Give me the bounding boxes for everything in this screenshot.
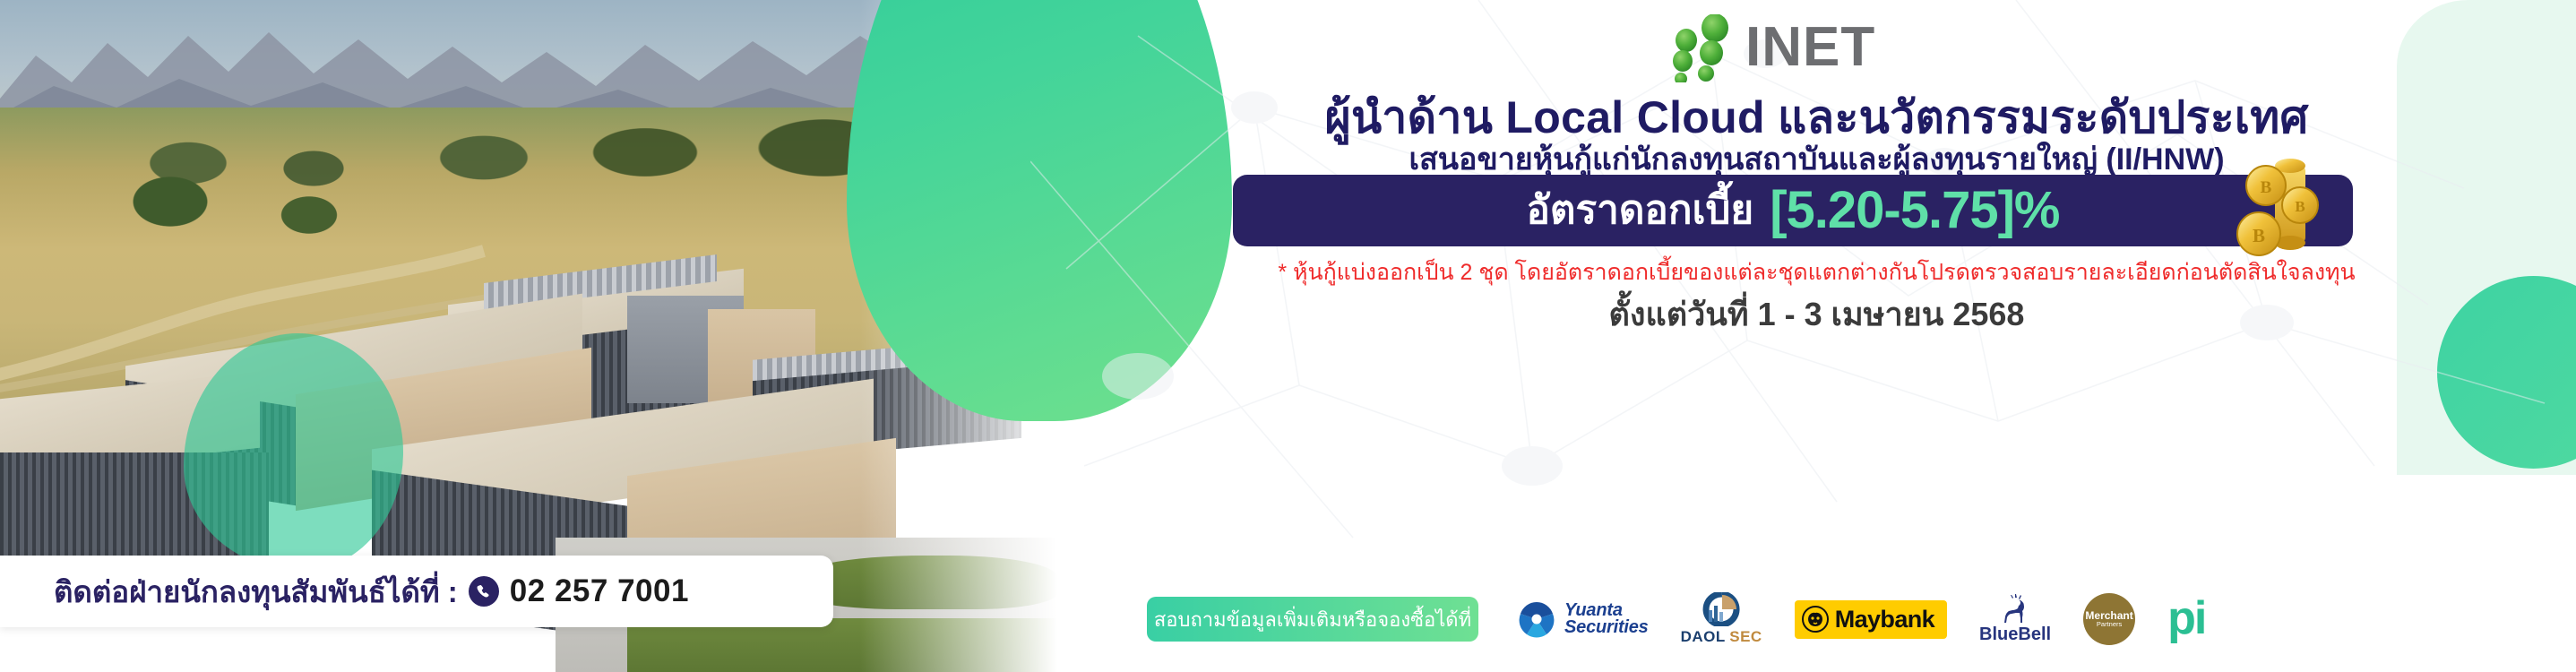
partner-logos: Yuanta Securities DAOL SEC: [1516, 591, 2205, 647]
inet-wordmark: INET: [1745, 20, 1875, 75]
investor-relations-contact-card: ติดต่อฝ่ายนักลงทุนสัมพันธ์ได้ที่ : 02 25…: [0, 556, 833, 627]
gold-coin-stack-icon: B B B: [2223, 155, 2326, 264]
partner-logo-bluebell[interactable]: BlueBell: [1979, 591, 2051, 647]
svg-text:B: B: [2261, 178, 2272, 197]
maybank-wordmark: Maybank: [1835, 606, 1934, 633]
svg-text:B: B: [2295, 198, 2305, 215]
inquiry-cta-button[interactable]: สอบถามข้อมูลเพิ่มเติมหรือจองซื้อได้ที่: [1147, 597, 1478, 642]
phone-glyph: [475, 583, 492, 600]
interest-rate-box: อัตราดอกเบี้ย [5.20-5.75]%: [1233, 175, 2353, 246]
daol-line2: SEC: [1729, 628, 1762, 645]
merchant-circle-icon: Merchant Partners: [2083, 593, 2135, 645]
inet-debenture-banner: INET ผู้นำด้าน Local Cloud และนวัตกรรมระ…: [0, 0, 2576, 672]
partner-logo-merchant[interactable]: Merchant Partners: [2083, 591, 2135, 647]
partner-logo-yuanta[interactable]: Yuanta Securities: [1516, 591, 1649, 647]
contact-label: ติดต่อฝ่ายนักลงทุนสัมพันธ์ได้ที่ :: [54, 568, 458, 616]
cta-and-partners-row: สอบถามข้อมูลเพิ่มเติมหรือจองซื้อได้ที่: [1057, 591, 2576, 647]
interest-rate-label: อัตราดอกเบี้ย: [1526, 191, 1753, 230]
maybank-tiger-icon: [1802, 606, 1829, 633]
interest-rate-value: [5.20-5.75]%: [1770, 185, 2059, 237]
partner-logo-maybank[interactable]: Maybank: [1795, 591, 1947, 647]
partner-logo-daol[interactable]: DAOL SEC: [1681, 591, 1762, 647]
inet-logo: INET: [1665, 14, 1943, 82]
bluebell-deer-icon: [1997, 594, 2033, 625]
yuanta-star-icon: [1516, 599, 1557, 640]
svg-text:B: B: [2253, 225, 2265, 246]
pi-wordmark-icon: pi: [2167, 600, 2205, 638]
bluebell-wordmark: BlueBell: [1979, 625, 2051, 645]
content-column: INET ผู้นำด้าน Local Cloud และนวัตกรรมระ…: [1057, 0, 2576, 672]
offer-date-range: ตั้งแต่วันที่ 1 - 3 เมษายน 2568: [1057, 289, 2576, 340]
merchant-line2: Partners: [2097, 621, 2122, 628]
footnote: * หุ้นกู้แบ่งออกเป็น 2 ชุด โดยอัตราดอกเบ…: [1057, 254, 2576, 290]
phone-icon: [469, 576, 499, 607]
cta-label: สอบถามข้อมูลเพิ่มเติมหรือจองซื้อได้ที่: [1154, 604, 1471, 635]
yuanta-line2: Securities: [1564, 619, 1649, 636]
partner-logo-pi[interactable]: pi: [2167, 591, 2205, 647]
inet-dot-cluster-icon: [1665, 14, 1751, 82]
daol-pie-icon: [1698, 592, 1745, 626]
contact-phone-number: 02 257 7001: [510, 573, 689, 609]
daol-line1: DAOL: [1681, 628, 1726, 645]
